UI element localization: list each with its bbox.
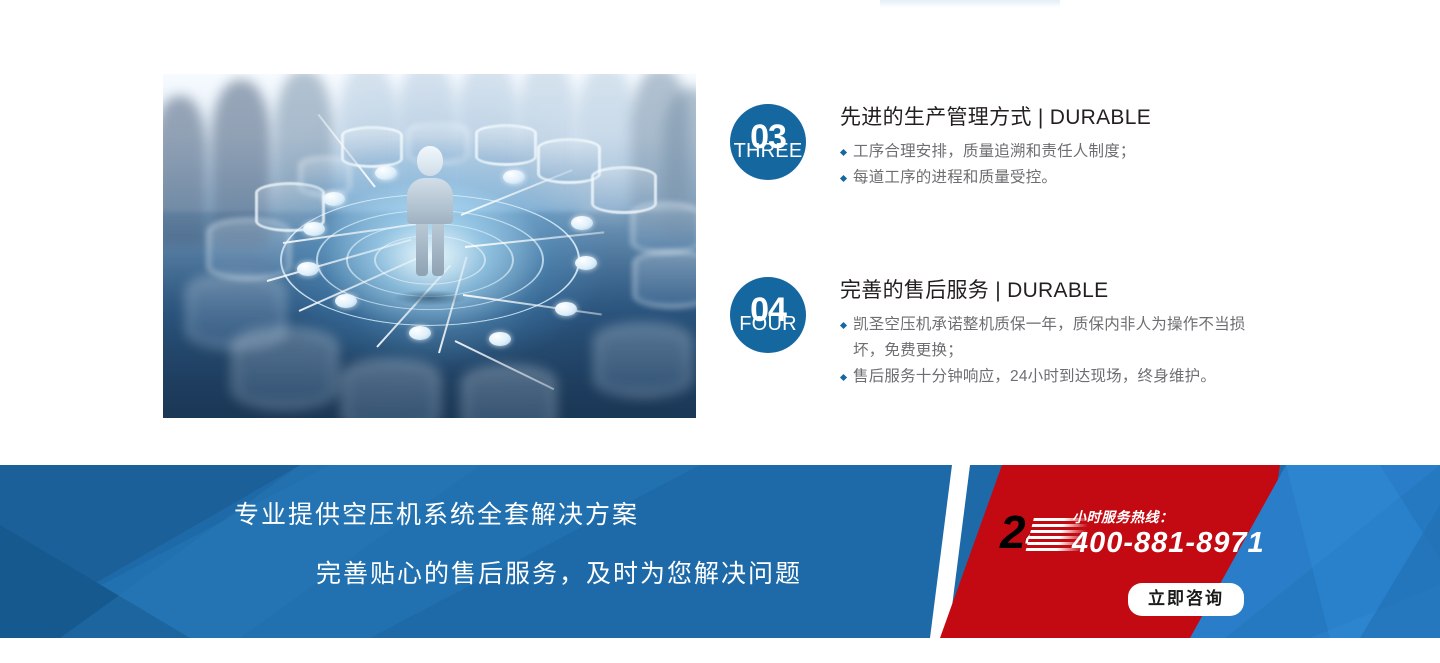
- network-node: [297, 262, 319, 276]
- network-node: [323, 192, 345, 206]
- network-node: [555, 302, 577, 316]
- feature-title: 先进的生产管理方式 | DURABLE: [840, 104, 1151, 132]
- hotline-number: 400-881-8971: [1072, 527, 1265, 560]
- top-edge-artifact: [880, 0, 1060, 8]
- network-node: [575, 256, 597, 270]
- list-item: 凯圣空压机承诺整机质保一年，质保内非人为操作不当损坏，免费更换；: [840, 312, 1250, 364]
- network-node: [375, 166, 397, 180]
- network-node: [489, 332, 511, 346]
- network-people-illustration: [163, 74, 696, 418]
- badge-04: 04 FOUR: [730, 277, 806, 353]
- hours-digit-4: 4: [1026, 511, 1052, 557]
- feature-text-04: 完善的售后服务 | DURABLE 凯圣空压机承诺整机质保一年，质保内非人为操作…: [840, 277, 1250, 390]
- feature-text-03: 先进的生产管理方式 | DURABLE 工序合理安排，质量追溯和责任人制度； 每…: [840, 104, 1151, 191]
- page-root: 03 THREE 先进的生产管理方式 | DURABLE 工序合理安排，质量追溯…: [0, 0, 1440, 663]
- person-avatar: [407, 146, 453, 276]
- list-item: 工序合理安排，质量追溯和责任人制度；: [840, 139, 1151, 165]
- feature-list: 凯圣空压机承诺整机质保一年，质保内非人为操作不当损坏，免费更换； 售后服务十分钟…: [840, 312, 1250, 390]
- badge-03: 03 THREE: [730, 104, 806, 180]
- network-node: [335, 294, 357, 308]
- bottom-cta-banner: 专业提供空压机系统全套解决方案 完善贴心的售后服务，及时为您解决问题 2 4 小…: [0, 465, 1440, 638]
- slogan-line-2: 完善贴心的售后服务，及时为您解决问题: [316, 558, 802, 590]
- badge-word: THREE: [730, 142, 806, 160]
- network-node: [409, 326, 431, 340]
- avatar-shadow: [393, 290, 467, 306]
- hotline-block: 2 4 小时服务热线： 400-881-8971 立即咨询: [1000, 503, 1300, 623]
- consult-now-button[interactable]: 立即咨询: [1128, 583, 1244, 616]
- feature-title: 完善的售后服务 | DURABLE: [840, 277, 1250, 305]
- banner-slogan: 专业提供空压机系统全套解决方案 完善贴心的售后服务，及时为您解决问题: [0, 465, 940, 638]
- feature-list: 工序合理安排，质量追溯和责任人制度； 每道工序的进程和质量受控。: [840, 139, 1151, 191]
- hours-digit-2: 2: [1000, 509, 1026, 555]
- slogan-line-1: 专业提供空压机系统全套解决方案: [234, 499, 639, 531]
- list-item: 售后服务十分钟响应，24小时到达现场，终身维护。: [840, 364, 1250, 390]
- hotline-label: 小时服务热线：: [1072, 507, 1174, 527]
- network-node: [503, 170, 525, 184]
- badge-word: FOUR: [730, 315, 806, 333]
- list-item: 每道工序的进程和质量受控。: [840, 165, 1151, 191]
- network-node: [571, 216, 593, 230]
- network-node: [303, 222, 325, 236]
